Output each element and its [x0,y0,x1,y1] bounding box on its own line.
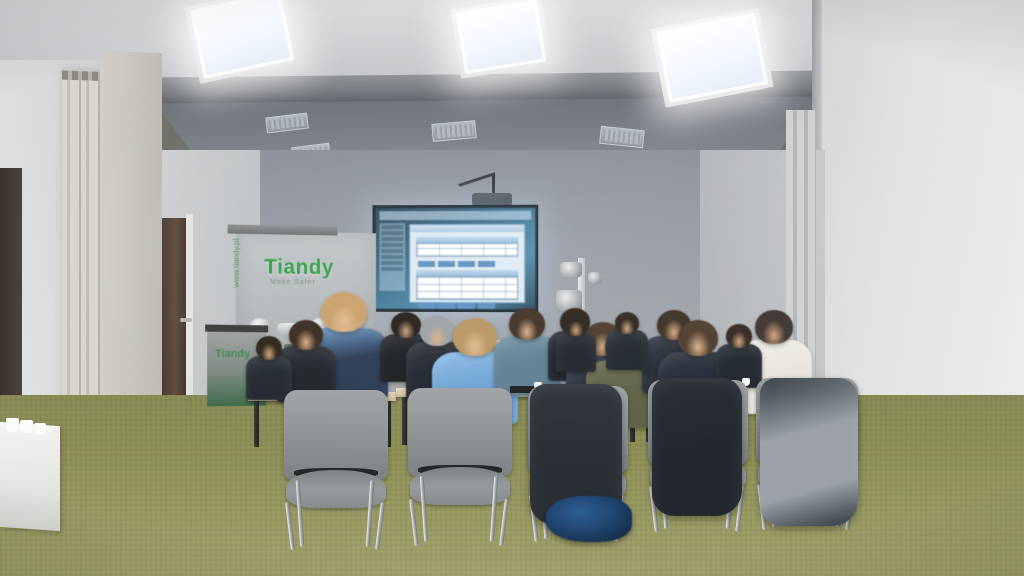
projected-table-2 [416,276,518,300]
chair-leg-2 [499,499,509,547]
projected-software-ui [375,208,535,309]
chair-backrest [408,388,512,476]
projected-button-row-1 [418,261,495,267]
backdrop-top-edge [228,224,338,235]
cup-icon-3 [34,423,46,435]
attendee-head [289,320,323,350]
backpack-icon [546,496,632,542]
ceiling-fixture-off-4 [431,120,476,142]
chair-leg-2 [375,502,385,550]
attendee-head [615,312,639,334]
tiandy-website: www.tiandy.pl [232,238,241,287]
attendee-head [453,318,497,356]
attendee-head [678,320,718,356]
projection-screen [373,205,539,313]
attendee-head [726,324,752,348]
bullet-camera-icon-wall-1 [560,262,582,277]
table-leg-2-1 [402,397,407,445]
ceiling-light-2 [456,0,547,74]
cup-icon-2 [20,420,33,433]
chair-empty-left[interactable] [284,390,388,550]
attendee-bg-1 [556,314,596,376]
chair-backrest [284,390,388,480]
attendee-head [564,314,588,336]
cup-icon-1 [6,418,19,432]
projected-toolbar [379,211,531,220]
projector-mount-pole [492,173,495,195]
projected-sidebar [379,223,405,291]
attendee-head [256,336,282,360]
lectern-top [205,325,268,333]
attendee-bg-2 [606,312,648,374]
chair-empty-mid[interactable] [408,388,512,546]
coat-gray[interactable] [760,378,858,526]
projected-button-row-2 [418,303,495,309]
door-handle-icon[interactable] [180,318,192,322]
tiandy-logo: Tiandy [264,255,334,280]
table-leg-1-1 [254,401,259,447]
conference-room-photo: Tiandy Make Safer www.tiandy.pl Tiandy [0,0,1024,576]
attendee-torso [606,330,648,370]
projected-table-1 [416,243,518,257]
lectern-logo: Tiandy [215,348,250,360]
refreshment-table [0,422,60,531]
attendee-head [509,308,545,340]
projected-dialog-titlebar [410,225,524,232]
chair-leg-1 [409,499,419,547]
chair-leg-1 [285,502,295,550]
attendee-torso [556,332,596,372]
box-camera-icon-wall-3 [588,272,601,284]
projected-dialog [409,224,525,303]
tiandy-tagline: Make Safer [270,279,316,286]
coat-dark-2[interactable] [652,378,742,516]
